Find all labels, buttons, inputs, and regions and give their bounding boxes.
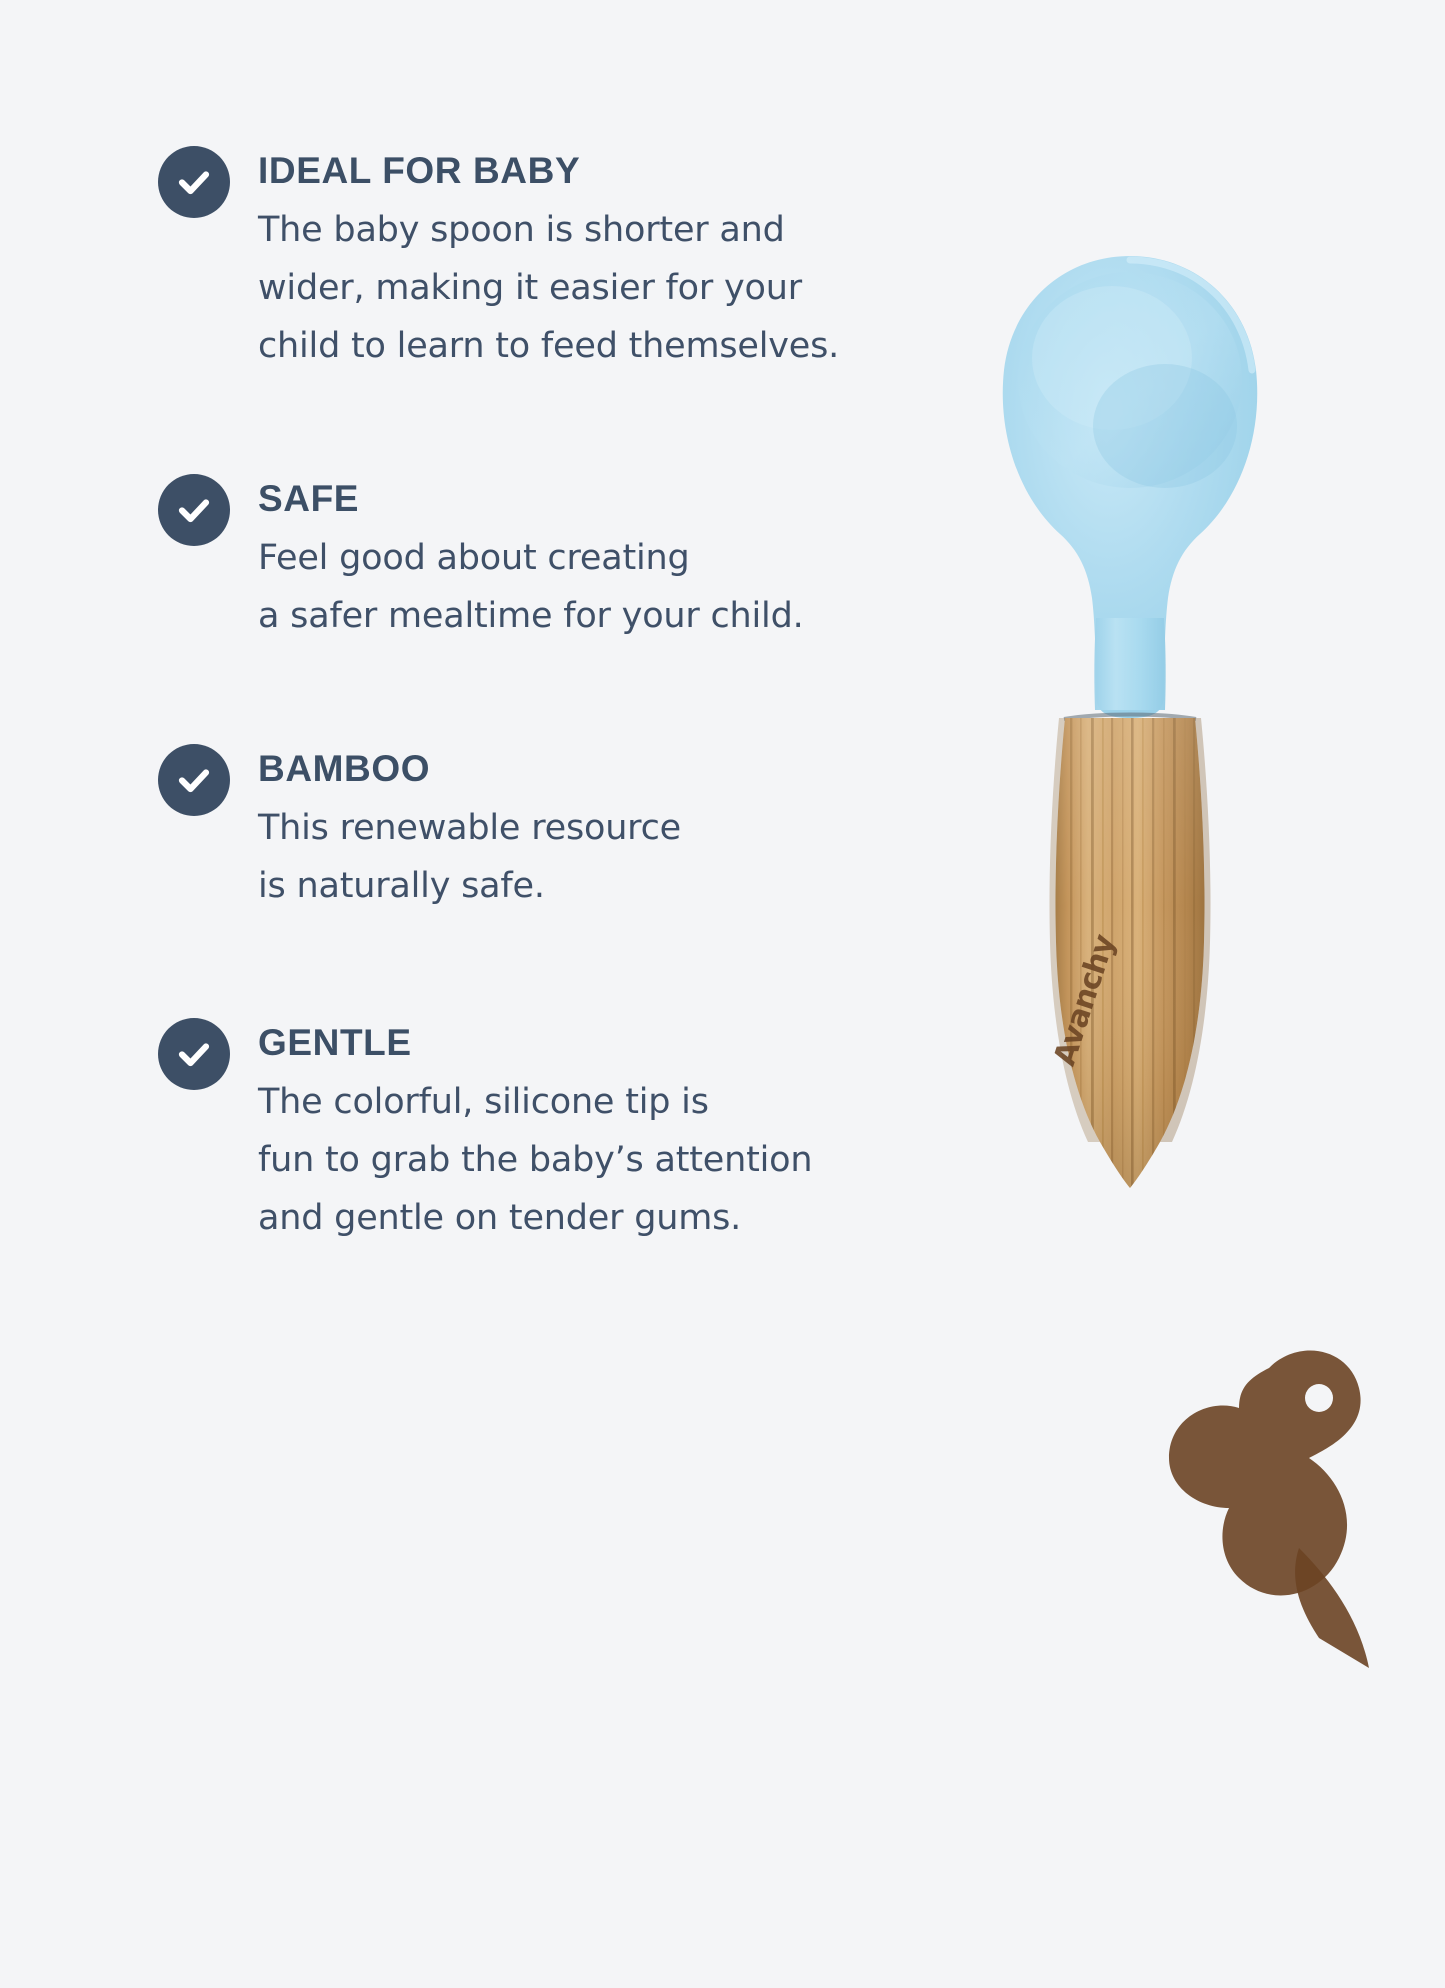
feature-body: SAFE Feel good about creating a safer me… <box>258 474 918 645</box>
feature-description-line: wider, making it easier for your <box>258 259 918 317</box>
feature-title: GENTLE <box>258 1018 918 1061</box>
feature-description: The colorful, silicone tip is fun to gra… <box>258 1063 918 1247</box>
feature-description-line: fun to grab the baby’s attention <box>258 1131 918 1189</box>
check-circle-icon <box>158 146 230 218</box>
check-circle-icon <box>158 744 230 816</box>
check-circle-icon <box>158 1018 230 1090</box>
feature-description: This renewable resource is naturally saf… <box>258 789 918 915</box>
feature-title: IDEAL FOR BABY <box>258 146 918 189</box>
feature-description: Feel good about creating a safer mealtim… <box>258 519 918 645</box>
feature-description-line: Feel good about creating <box>258 529 918 587</box>
feature-body: IDEAL FOR BABY The baby spoon is shorter… <box>258 146 918 375</box>
product-image-bamboo-baby-spoon: Avanchy <box>960 230 1300 1190</box>
feature-description-line: a safer mealtime for your child. <box>258 587 918 645</box>
feature-description-line: child to learn to feed themselves. <box>258 317 918 375</box>
feature-description-line: The baby spoon is shorter and <box>258 201 918 259</box>
bamboo-shading <box>1055 718 1204 1188</box>
feature-description-line: The colorful, silicone tip is <box>258 1073 918 1131</box>
check-circle-icon <box>158 474 230 546</box>
feature-list: IDEAL FOR BABY The baby spoon is shorter… <box>0 0 900 1445</box>
spoon-bowl-shadow <box>1093 364 1237 488</box>
feature-description-line: and gentle on tender gums. <box>258 1189 918 1247</box>
feature-description-line: is naturally safe. <box>258 857 918 915</box>
spoon-neck <box>1094 618 1165 710</box>
feature-body: BAMBOO This renewable resource is natura… <box>258 744 918 915</box>
feature-description: The baby spoon is shorter and wider, mak… <box>258 191 918 375</box>
infographic-canvas: IDEAL FOR BABY The baby spoon is shorter… <box>0 0 1445 1445</box>
feature-description-line: This renewable resource <box>258 799 918 857</box>
feature-title: BAMBOO <box>258 744 918 787</box>
feature-title: SAFE <box>258 474 918 517</box>
spoon-bamboo-handle <box>1049 710 1210 1190</box>
feature-body: GENTLE The colorful, silicone tip is fun… <box>258 1018 918 1247</box>
